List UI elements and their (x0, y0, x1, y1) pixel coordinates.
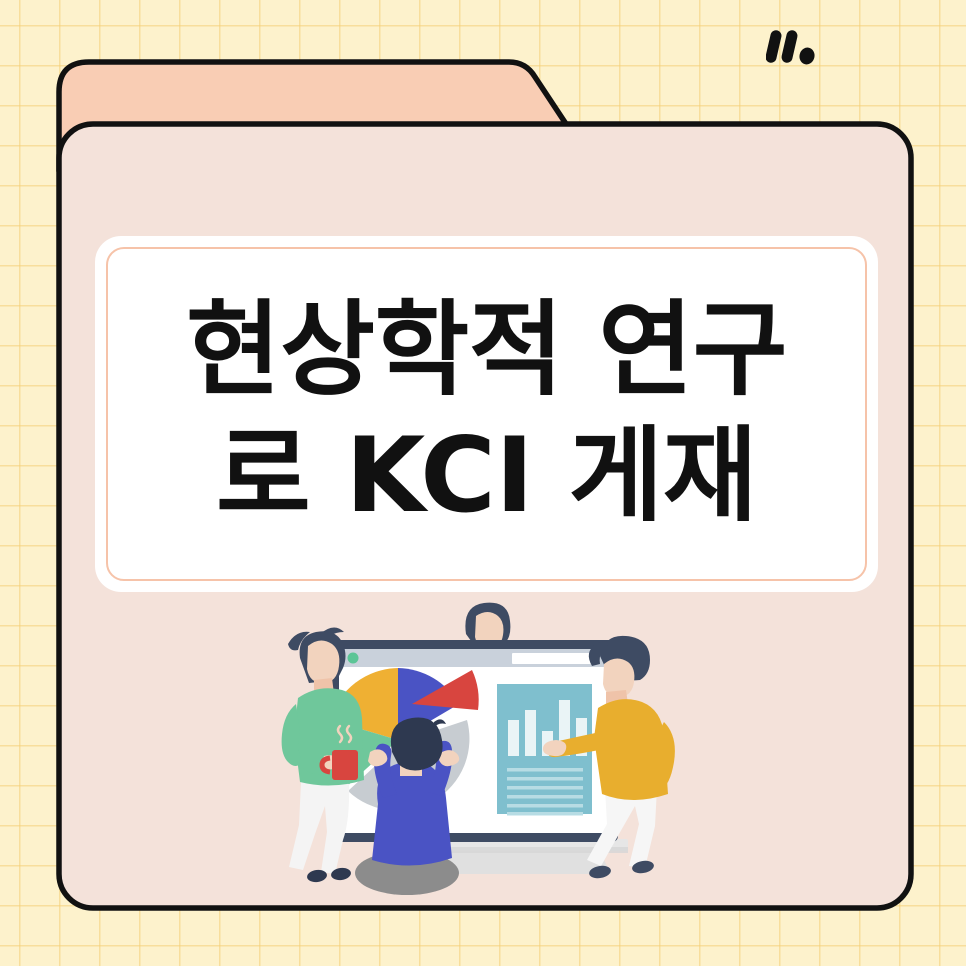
title-line-1: 현상학적 연구 (186, 288, 787, 414)
left-person-legs (289, 779, 349, 874)
team-analyzing-data-illustration (270, 592, 695, 902)
title-line-2: 로 KCI 게재 (216, 414, 757, 540)
bar-1 (508, 720, 519, 756)
title-card-inner-frame: 현상학적 연구 로 KCI 게재 (106, 247, 867, 581)
browser-search-box (512, 653, 600, 664)
left-person-face (307, 640, 339, 683)
title-card: 현상학적 연구 로 KCI 게재 (95, 236, 878, 592)
poster-canvas: 현상학적 연구 로 KCI 게재 (0, 0, 966, 966)
bar-2 (525, 710, 536, 756)
browser-dot-icon (348, 653, 359, 664)
